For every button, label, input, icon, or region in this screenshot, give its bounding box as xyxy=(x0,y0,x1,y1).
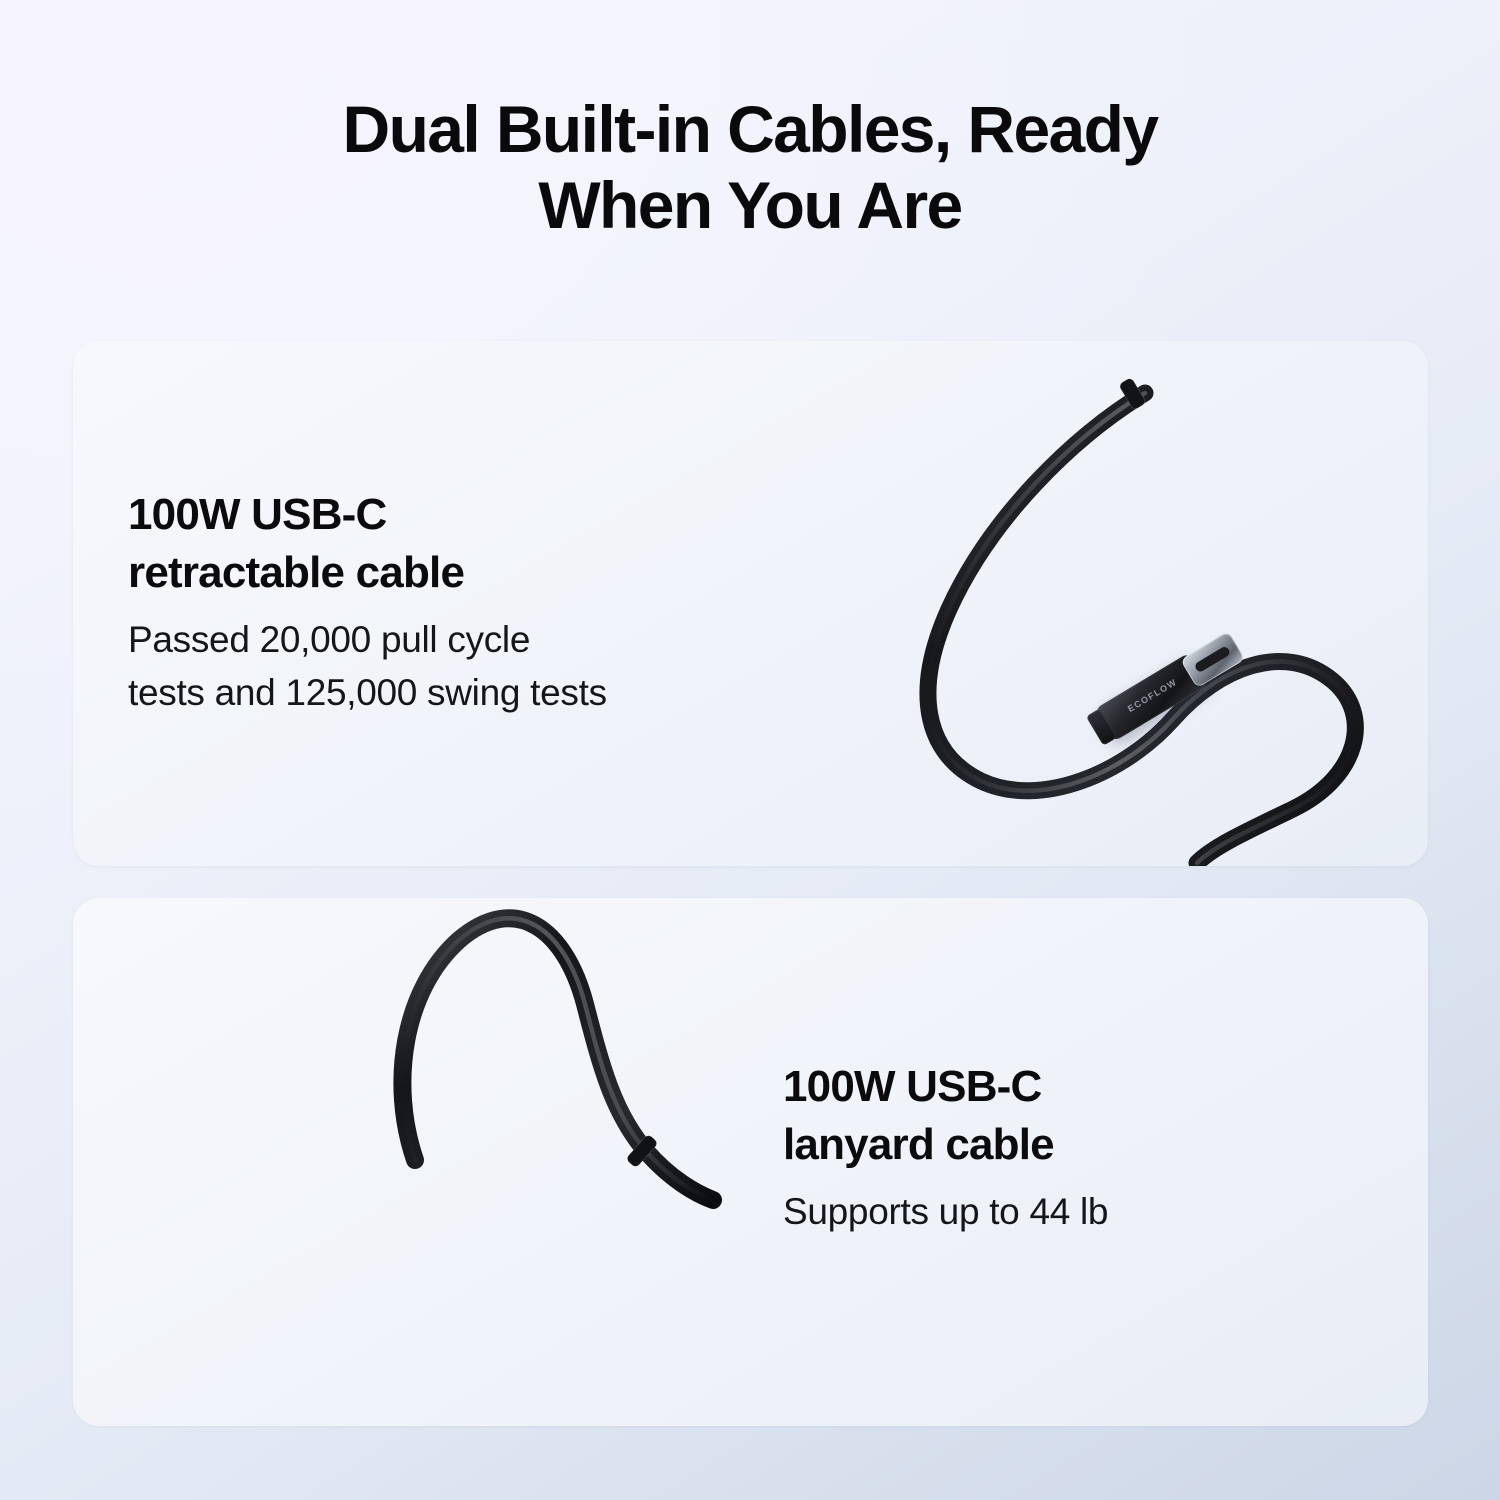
page-headline: Dual Built-in Cables, Ready When You Are xyxy=(0,92,1500,244)
connector-shell xyxy=(1093,652,1209,742)
feature-title: 100W USB-C lanyard cable xyxy=(783,1058,1383,1174)
usbc-connector-retractable: ECOFLOW xyxy=(1087,619,1253,752)
feature-text-block: 100W USB-C lanyard cable Supports up to … xyxy=(783,1058,1383,1239)
connector-brand-mark: ECOFLOW xyxy=(1126,677,1179,714)
feature-text-block: 100W USB-C retractable cable Passed 20,0… xyxy=(128,486,768,719)
product-feature-page: Dual Built-in Cables, Ready When You Are… xyxy=(0,0,1500,1500)
feature-subtitle: Supports up to 44 lb xyxy=(783,1186,1383,1239)
feature-title: 100W USB-C retractable cable xyxy=(128,486,768,602)
connector-tip xyxy=(1180,631,1245,688)
retractable-ribbon-cable xyxy=(773,341,1428,866)
connector-collar xyxy=(1086,708,1117,745)
headline-line-1: Dual Built-in Cables, Ready xyxy=(343,92,1158,166)
feature-subtitle: Passed 20,000 pull cycle tests and 125,0… xyxy=(128,614,768,719)
headline-line-2: When You Are xyxy=(150,168,1350,244)
lanyard-strap-cable xyxy=(293,898,773,1318)
feature-card-lanyard-cable: 100W USB-C lanyard cable Supports up to … xyxy=(73,898,1428,1426)
feature-card-retractable-cable: 100W USB-C retractable cable Passed 20,0… xyxy=(73,341,1428,866)
